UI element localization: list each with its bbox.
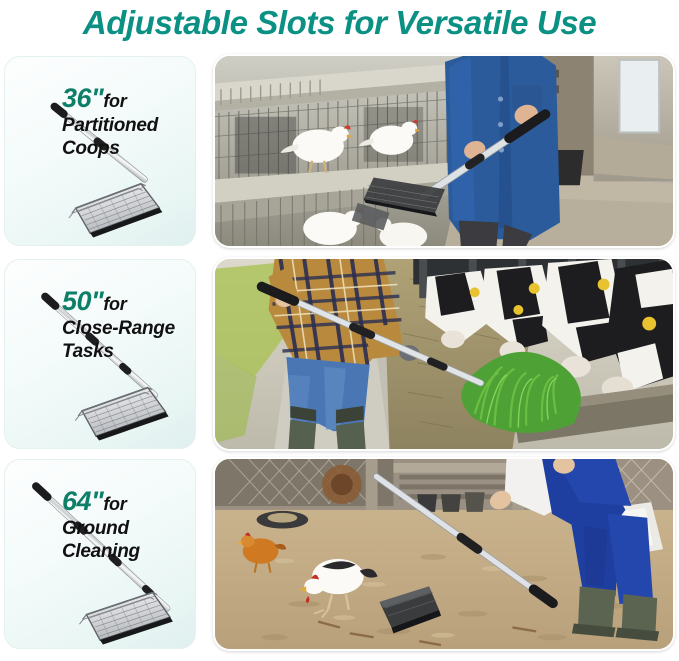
page-title: Adjustable Slots for Versatile Use: [0, 2, 679, 44]
photo-chicken-coop-cleaning: [213, 54, 675, 248]
spec-card: 64"for Ground Cleaning: [4, 459, 196, 649]
spec-description: Ground Cleaning: [62, 517, 186, 563]
spec-description: Partitioned Coops: [62, 114, 186, 160]
feature-row: 50"for Close-Range Tasks: [0, 255, 679, 453]
spec-text: 36"for Partitioned Coops: [62, 87, 186, 160]
worker-blue-coat: [445, 56, 560, 246]
spec-card: 36"for Partitioned Coops: [4, 56, 196, 246]
photo-farmyard-ground-cleaning: [213, 457, 675, 651]
infographic-page: Adjustable Slots for Versatile Use: [0, 0, 679, 661]
spec-description: Close-Range Tasks: [62, 317, 186, 363]
feature-row: 36"for Partitioned Coops: [0, 52, 679, 250]
spec-size: 36": [62, 83, 103, 113]
spec-for-label: for: [103, 494, 126, 514]
spec-text: 64"for Ground Cleaning: [62, 490, 186, 563]
spec-size: 50": [62, 286, 103, 316]
spec-for-label: for: [103, 294, 126, 314]
spec-size: 64": [62, 486, 103, 516]
feature-row: 64"for Ground Cleaning: [0, 455, 679, 653]
spec-text: 50"for Close-Range Tasks: [62, 290, 186, 363]
spec-for-label: for: [103, 91, 126, 111]
photo-cattle-barn-feeding: [213, 257, 675, 451]
spec-card: 50"for Close-Range Tasks: [4, 259, 196, 449]
